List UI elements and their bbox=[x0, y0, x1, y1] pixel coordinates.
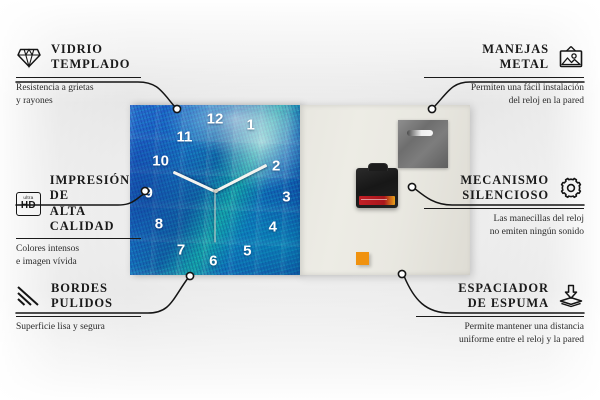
callout-rule bbox=[424, 77, 584, 78]
clock-numeral-6: 6 bbox=[209, 254, 217, 269]
clock-numeral-2: 2 bbox=[272, 159, 280, 174]
infographic-canvas: 12 1 2 3 4 5 6 7 8 9 10 11 bbox=[0, 0, 600, 400]
product-image: 12 1 2 3 4 5 6 7 8 9 10 11 bbox=[130, 105, 470, 275]
callout-desc: Colores intensos e imagen vívida bbox=[16, 243, 141, 269]
callout-rule bbox=[416, 316, 584, 317]
callout-silent-mechanism: MECANISMO SILENCIOSO Las manecillas del … bbox=[424, 173, 584, 239]
arrow-onto-layers-icon bbox=[558, 284, 584, 308]
callout-metal-handles: MANEJAS METAL Permiten una fácil instala… bbox=[424, 42, 584, 108]
mechanism-knob bbox=[368, 163, 388, 171]
callout-rule bbox=[424, 208, 584, 209]
clock-numeral-10: 10 bbox=[152, 154, 169, 169]
callout-rule bbox=[16, 316, 141, 317]
diagonal-lines-icon bbox=[16, 284, 42, 308]
gear-icon bbox=[558, 176, 584, 200]
callout-desc: Superficie lisa y segura bbox=[16, 321, 141, 334]
callout-title: BORDES PULIDOS bbox=[51, 281, 113, 312]
callout-title: MECANISMO SILENCIOSO bbox=[460, 173, 549, 204]
callout-rule bbox=[16, 238, 141, 239]
callout-title: ESPACIADOR DE ESPUMA bbox=[458, 281, 549, 312]
clock-numeral-4: 4 bbox=[269, 220, 277, 235]
clock-numeral-7: 7 bbox=[177, 242, 185, 257]
clock-mechanism-box bbox=[356, 168, 398, 208]
battery-label bbox=[359, 196, 395, 205]
callout-rule bbox=[16, 77, 141, 78]
clock-second-hand bbox=[215, 191, 216, 243]
callout-desc: Resistencia a grietas y rayones bbox=[16, 82, 141, 108]
clock-front-face: 12 1 2 3 4 5 6 7 8 9 10 11 bbox=[130, 105, 300, 275]
clock-hands-pivot bbox=[214, 189, 218, 193]
callout-foam-spacer: ESPACIADOR DE ESPUMA Permite mantener un… bbox=[416, 281, 584, 347]
clock-numeral-12: 12 bbox=[207, 112, 224, 127]
clock-numeral-3: 3 bbox=[282, 189, 290, 204]
diamond-icon bbox=[16, 45, 42, 69]
foam-spacer-pad bbox=[356, 252, 369, 265]
clock-numeral-1: 1 bbox=[247, 118, 255, 133]
clock-numeral-11: 11 bbox=[176, 130, 192, 145]
hanger-slot bbox=[407, 130, 433, 136]
ultra-hd-badge-large-text: HD bbox=[21, 201, 36, 211]
callout-title: IMPRESIÓN DE ALTA CALIDAD bbox=[50, 173, 141, 234]
callout-polished-edges: BORDES PULIDOS Superficie lisa y segura bbox=[16, 281, 141, 334]
callout-title: MANEJAS METAL bbox=[482, 42, 549, 73]
clock-numeral-8: 8 bbox=[155, 217, 163, 232]
clock-numeral-5: 5 bbox=[243, 244, 251, 259]
clock-numeral-9: 9 bbox=[145, 186, 153, 201]
callout-desc: Permiten una fácil instalación del reloj… bbox=[424, 82, 584, 108]
ultra-hd-badge-icon: ultra HD bbox=[16, 192, 41, 216]
metal-hanger-plate bbox=[398, 120, 448, 168]
picture-frame-hanger-icon bbox=[558, 45, 584, 69]
callout-desc: Las manecillas del reloj no emiten ningú… bbox=[424, 213, 584, 239]
callout-desc: Permite mantener una distancia uniforme … bbox=[416, 321, 584, 347]
callout-hd-print: ultra HD IMPRESIÓN DE ALTA CALIDAD Color… bbox=[16, 173, 141, 269]
callout-tempered-glass: VIDRIO TEMPLADO Resistencia a grietas y … bbox=[16, 42, 141, 108]
callout-title: VIDRIO TEMPLADO bbox=[51, 42, 130, 73]
